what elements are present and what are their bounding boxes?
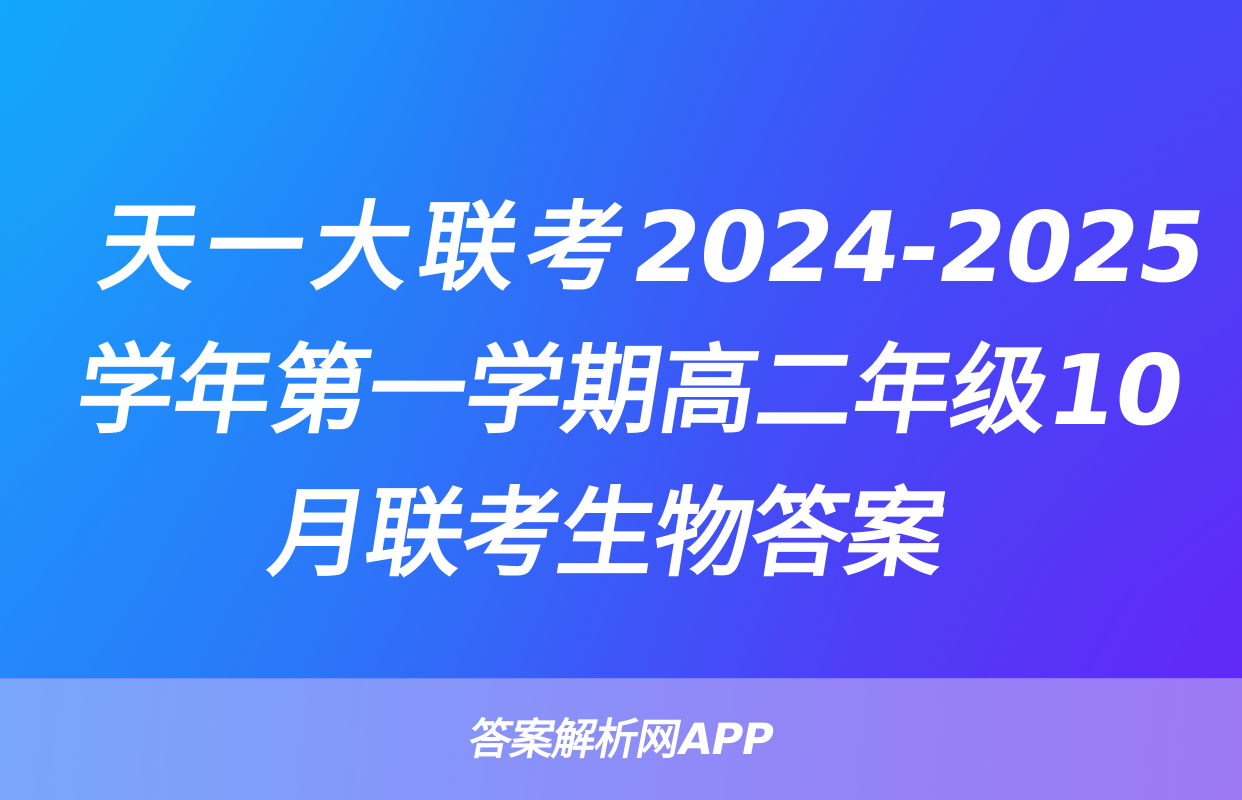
page-title: 天一大联考2024-2025学年第一学期高二年级10月联考生物答案 (44, 176, 1216, 605)
watermark-footer-band: 答案解析网APP (0, 678, 1242, 800)
hero-gradient-banner: 天一大联考2024-2025学年第一学期高二年级10月联考生物答案 (0, 0, 1242, 678)
promo-card: 天一大联考2024-2025学年第一学期高二年级10月联考生物答案 答案解析网A… (0, 0, 1242, 800)
brand-watermark: 答案解析网APP (465, 719, 777, 762)
headline-container: 天一大联考2024-2025学年第一学期高二年级10月联考生物答案 (78, 176, 1182, 605)
